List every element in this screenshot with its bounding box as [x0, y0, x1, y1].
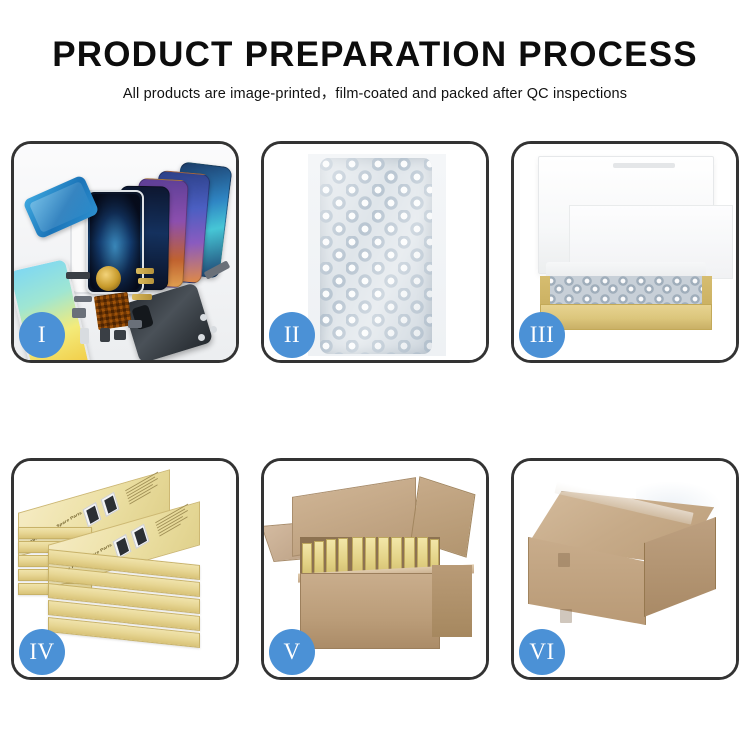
copper-coil-icon: [96, 266, 121, 291]
carton-handle-notch-bottom: [560, 609, 572, 623]
box-screen-thumb-4: [131, 524, 150, 549]
part-screw-1-icon: [200, 314, 207, 321]
header: PRODUCT PREPARATION PROCESS All products…: [0, 34, 750, 103]
part-screw-3-icon: [198, 334, 205, 341]
process-steps-grid: I II: [11, 141, 739, 686]
step-panel-5[interactable]: V: [261, 458, 489, 680]
mailer-lid-tab: [613, 163, 675, 168]
bubble-wrap-pouch-icon: [320, 158, 432, 354]
part-ribbon-icon: [132, 294, 152, 300]
part-screw-2-icon: [210, 326, 217, 333]
step-panel-6[interactable]: VI: [511, 458, 739, 680]
mailer-lid-icon: [538, 156, 714, 274]
page-subtitle: All products are image-printed，film-coat…: [0, 85, 750, 103]
step-badge-1: I: [19, 312, 65, 358]
step-badge-5: V: [269, 629, 315, 675]
part-flex-cable-icon: [136, 268, 154, 274]
part-button-icon: [72, 308, 86, 318]
part-speaker-icon: [100, 328, 110, 342]
box-screen-thumb-1: [83, 502, 102, 527]
step-panel-1[interactable]: I: [11, 141, 239, 363]
chip-array-icon: [94, 292, 132, 330]
step-panel-4[interactable]: Mobile Phone Spare Parts: [11, 458, 239, 680]
product-preparation-infographic: PRODUCT PREPARATION PROCESS All products…: [0, 0, 750, 750]
part-sim-tray-icon: [80, 328, 89, 344]
box-screen-thumb-2: [101, 492, 120, 517]
step-badge-3: III: [519, 312, 565, 358]
part-flex-cable-2-icon: [138, 278, 154, 284]
part-shield-icon: [128, 320, 142, 328]
step-panel-3[interactable]: III: [511, 141, 739, 363]
step-badge-2: II: [269, 312, 315, 358]
mailer-tray-front-icon: [540, 304, 712, 330]
part-connector-icon: [66, 272, 90, 279]
carton-side-face-icon: [432, 565, 472, 637]
step-badge-6: VI: [519, 629, 565, 675]
carton-front-face-icon: [300, 573, 440, 649]
step-panel-2[interactable]: II: [261, 141, 489, 363]
box-spec-lines-back: [125, 471, 165, 507]
part-bracket-icon: [74, 296, 92, 302]
page-title: PRODUCT PREPARATION PROCESS: [0, 34, 750, 76]
step-badge-4: IV: [19, 629, 65, 675]
carton-handle-notch-top: [558, 553, 570, 567]
part-vibrator-icon: [114, 330, 126, 340]
